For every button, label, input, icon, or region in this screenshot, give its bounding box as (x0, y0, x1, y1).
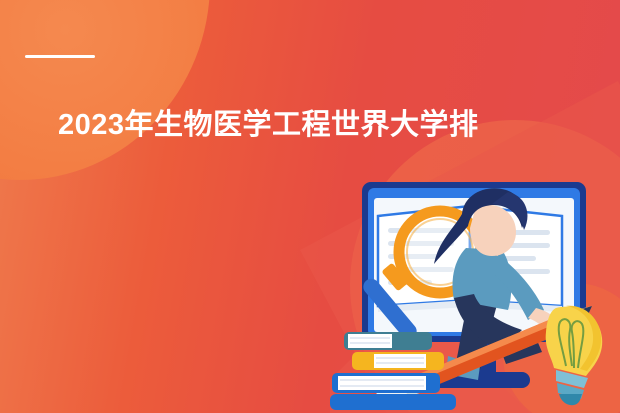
banner-image: 2023年生物医学工程世界大学排 (0, 0, 620, 413)
accent-rule (25, 55, 95, 58)
study-research-illustration (330, 180, 620, 413)
banner-title: 2023年生物医学工程世界大学排 (58, 108, 479, 143)
